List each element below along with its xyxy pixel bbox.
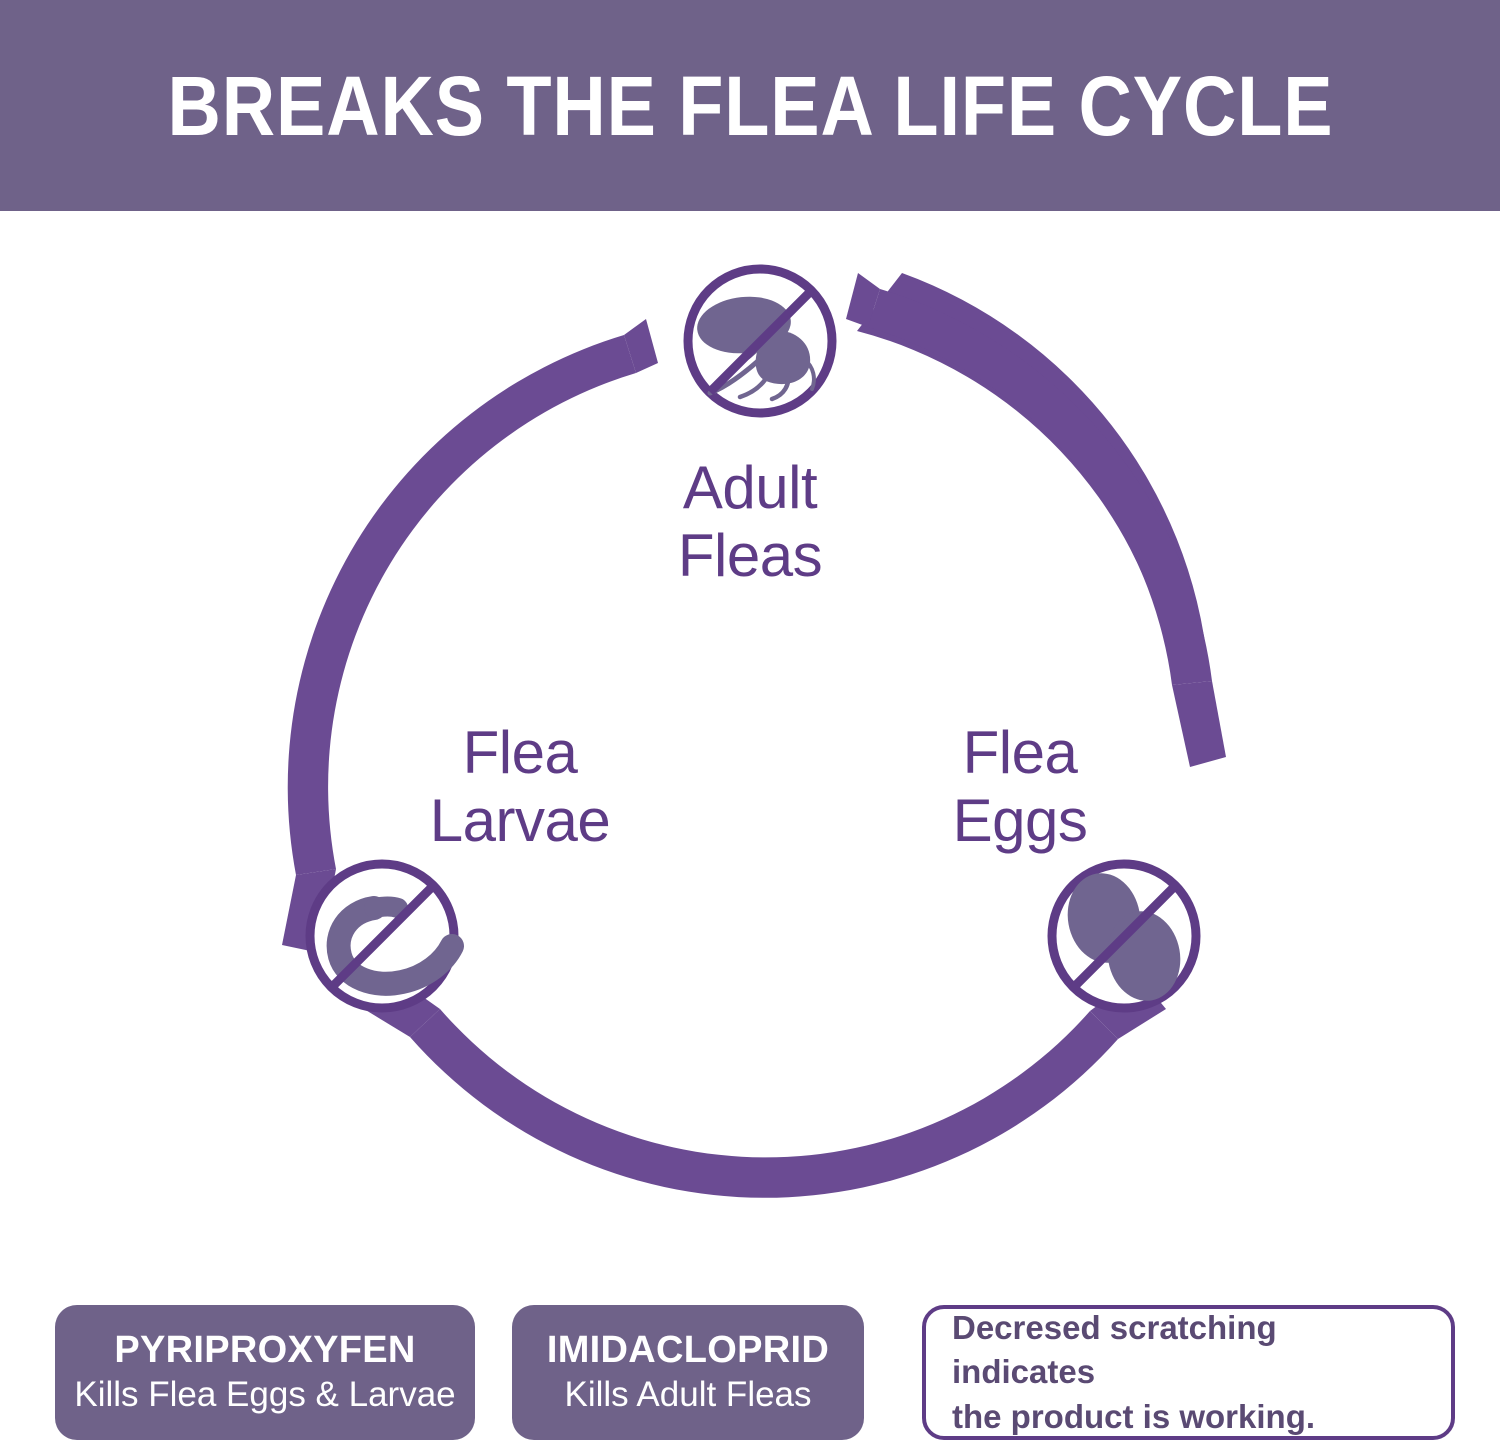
badge-scratching-note-text: Decresed scratching indicates the produc…: [926, 1306, 1451, 1440]
badge-imidacloprid-subtitle: Kills Adult Fleas: [564, 1374, 811, 1416]
badge-pyriproxyfen-subtitle: Kills Flea Eggs & Larvae: [74, 1374, 455, 1416]
page-title: BREAKS THE FLEA LIFE CYCLE: [167, 64, 1333, 148]
cycle-svg: [0, 211, 1500, 1271]
no-adult-flea-icon: [688, 269, 832, 413]
badge-pyriproxyfen-title: PYRIPROXYFEN: [114, 1329, 415, 1373]
badge-scratching-note: Decresed scratching indicates the produc…: [922, 1305, 1455, 1440]
flea-life-cycle-diagram: Adult Fleas Flea Eggs Flea Larvae: [0, 211, 1500, 1271]
cycle-label-adult-fleas: Adult Fleas: [600, 454, 900, 591]
cycle-label-flea-larvae: Flea Larvae: [370, 719, 670, 856]
arc-eggs-to-larvae-body: [410, 1009, 1118, 1198]
ingredient-badge-row: PYRIPROXYFEN Kills Flea Eggs & Larvae IM…: [0, 1305, 1500, 1451]
cycle-label-flea-eggs: Flea Eggs: [900, 719, 1140, 856]
no-flea-eggs-icon: [1052, 864, 1196, 1008]
header-banner: BREAKS THE FLEA LIFE CYCLE: [0, 0, 1500, 211]
badge-pyriproxyfen: PYRIPROXYFEN Kills Flea Eggs & Larvae: [55, 1305, 475, 1440]
badge-imidacloprid-title: IMIDACLOPRID: [547, 1329, 829, 1373]
no-flea-larvae-icon: [310, 864, 454, 1008]
badge-imidacloprid: IMIDACLOPRID Kills Adult Fleas: [512, 1305, 864, 1440]
arc-adult-to-eggs-end: [1172, 681, 1226, 767]
